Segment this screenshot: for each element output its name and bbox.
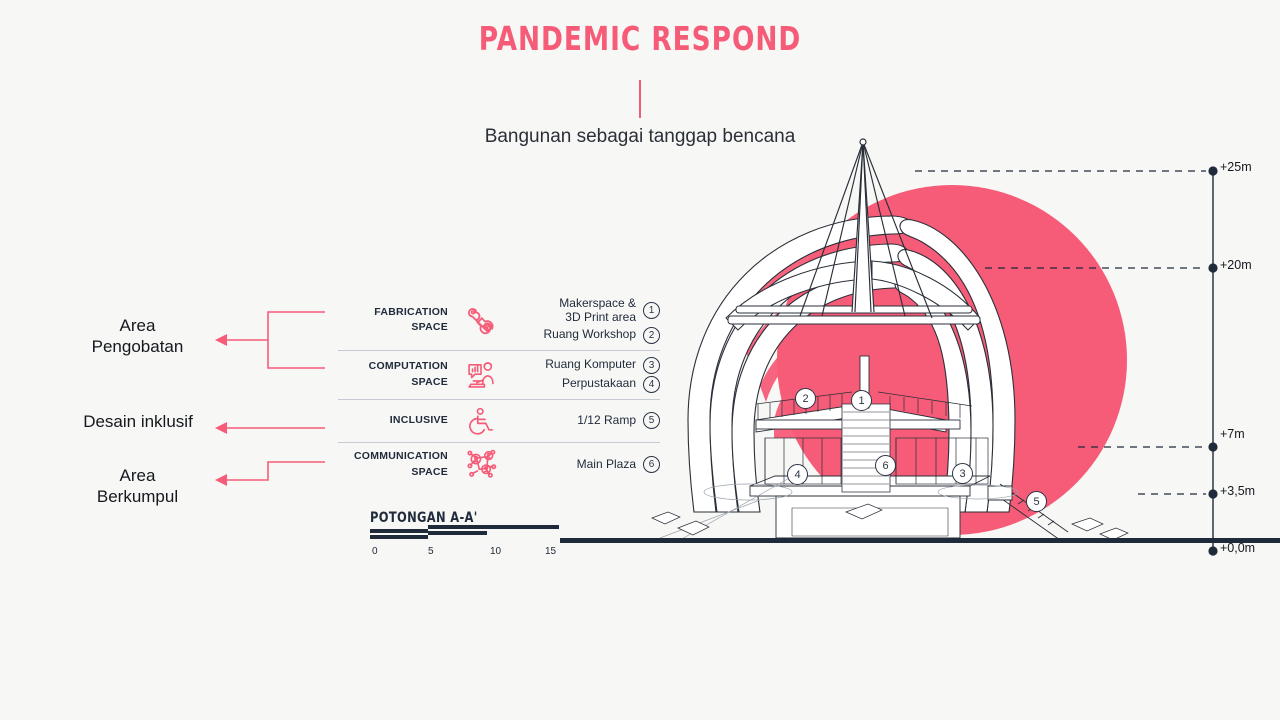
- legend-item-name: Main Plaza: [577, 458, 636, 472]
- legend-number-1: 1: [643, 302, 660, 319]
- legend-category-line1: FABRICATION: [338, 305, 448, 320]
- scale-bar-title: POTONGAN A-A': [370, 510, 531, 526]
- section-drawing-svg: [560, 120, 1280, 570]
- elevation-label-25m: +25m: [1220, 160, 1252, 174]
- legend-items-computation: Ruang Komputer 3 Perpustakaan 4: [506, 356, 660, 394]
- scale-tick-0: 0: [372, 546, 378, 557]
- legend-category-line2: SPACE: [338, 465, 448, 480]
- legend-item-ruang-workshop[interactable]: Ruang Workshop 2: [506, 326, 660, 345]
- legend-table: FABRICATION SPACE Makerspace & 3D Print …: [338, 291, 660, 487]
- legend-item-main-plaza[interactable]: Main Plaza 6: [506, 455, 660, 474]
- legend-item-name: Ruang Komputer: [545, 358, 636, 372]
- legend-number-3: 3: [643, 357, 660, 374]
- legend-category-line2: SPACE: [338, 375, 448, 390]
- people-network-icon: [456, 448, 506, 482]
- scale-bar-graphic: [370, 531, 566, 543]
- callout-3: 3: [952, 463, 973, 484]
- annotation-area-pengobatan: Area Pengobatan: [60, 315, 215, 358]
- legend-row-communication[interactable]: COMMUNICATION SPACE: [338, 442, 660, 487]
- legend-row-fabrication[interactable]: FABRICATION SPACE Makerspace & 3D Print …: [338, 291, 660, 350]
- legend-category-line2: SPACE: [338, 320, 448, 335]
- wrench-screwdriver-icon: [456, 303, 506, 337]
- legend-item-perpustakaan[interactable]: Perpustakaan 4: [506, 375, 660, 394]
- legend-item-name: 1/12 Ramp: [577, 414, 636, 428]
- scale-bar-ticks: 0 5 10 15: [370, 546, 566, 560]
- elevation-label-7m: +7m: [1220, 427, 1245, 441]
- title-block: PANDEMIC RESPOND: [0, 22, 1280, 57]
- elevation-label-3-5m: +3,5m: [1220, 484, 1255, 498]
- legend-item-ruang-komputer[interactable]: Ruang Komputer 3: [506, 356, 660, 375]
- person-computer-chart-icon: [456, 358, 506, 392]
- legend-item-ramp[interactable]: 1/12 Ramp 5: [506, 411, 660, 430]
- scale-tick-5: 5: [428, 546, 434, 557]
- legend-category-line1: COMMUNICATION: [338, 449, 448, 464]
- callout-5: 5: [1026, 491, 1047, 512]
- elevation-label-20m: +20m: [1220, 258, 1252, 272]
- legend-number-2: 2: [643, 327, 660, 344]
- legend-number-6: 6: [643, 456, 660, 473]
- wheelchair-accessibility-icon: [456, 405, 506, 437]
- annotation-area-berkumpul: Area Berkumpul: [60, 465, 215, 508]
- page-title: PANDEMIC RESPOND: [128, 22, 1152, 57]
- legend-item-name: Ruang Workshop: [544, 328, 637, 342]
- legend-item-name: Perpustakaan: [562, 377, 636, 391]
- scale-tick-15: 15: [545, 546, 556, 557]
- ground-line: [560, 538, 1280, 543]
- legend-category-computation: COMPUTATION SPACE: [338, 359, 456, 389]
- annotation-desain-inklusif: Desain inklusif: [58, 411, 218, 432]
- slide-canvas: PANDEMIC RESPOND Bangunan sebagai tangga…: [0, 0, 1280, 720]
- legend-item-name: Makerspace & 3D Print area: [559, 297, 636, 325]
- callout-6: 6: [875, 455, 896, 476]
- callout-4: 4: [787, 464, 808, 485]
- elevation-label-0m: +0,0m: [1220, 541, 1255, 555]
- section-drawing: 1 2 3 4 5 6: [560, 120, 1280, 570]
- legend-item-makerspace[interactable]: Makerspace & 3D Print area 1: [506, 296, 660, 326]
- legend-items-inclusive: 1/12 Ramp 5: [506, 411, 660, 430]
- legend-category-inclusive: INCLUSIVE: [338, 413, 456, 428]
- legend-number-4: 4: [643, 376, 660, 393]
- legend-row-computation[interactable]: COMPUTATION SPACE Ruang Komputer: [338, 350, 660, 399]
- callout-2: 2: [795, 388, 816, 409]
- legend-category-line1: COMPUTATION: [338, 359, 448, 374]
- legend-category-communication: COMMUNICATION SPACE: [338, 449, 456, 479]
- legend-category-fabrication: FABRICATION SPACE: [338, 305, 456, 335]
- scale-tick-10: 10: [490, 546, 501, 557]
- callout-1: 1: [851, 390, 872, 411]
- legend-category-line1: INCLUSIVE: [338, 413, 448, 428]
- legend-items-communication: Main Plaza 6: [506, 455, 660, 474]
- legend-row-inclusive[interactable]: INCLUSIVE 1/12 Ramp 5: [338, 399, 660, 442]
- title-connector-line: [639, 80, 641, 118]
- legend-items-fabrication: Makerspace & 3D Print area 1 Ruang Works…: [506, 296, 660, 345]
- legend-number-5: 5: [643, 412, 660, 429]
- scale-bar: POTONGAN A-A' 0 5 10 15: [370, 510, 566, 560]
